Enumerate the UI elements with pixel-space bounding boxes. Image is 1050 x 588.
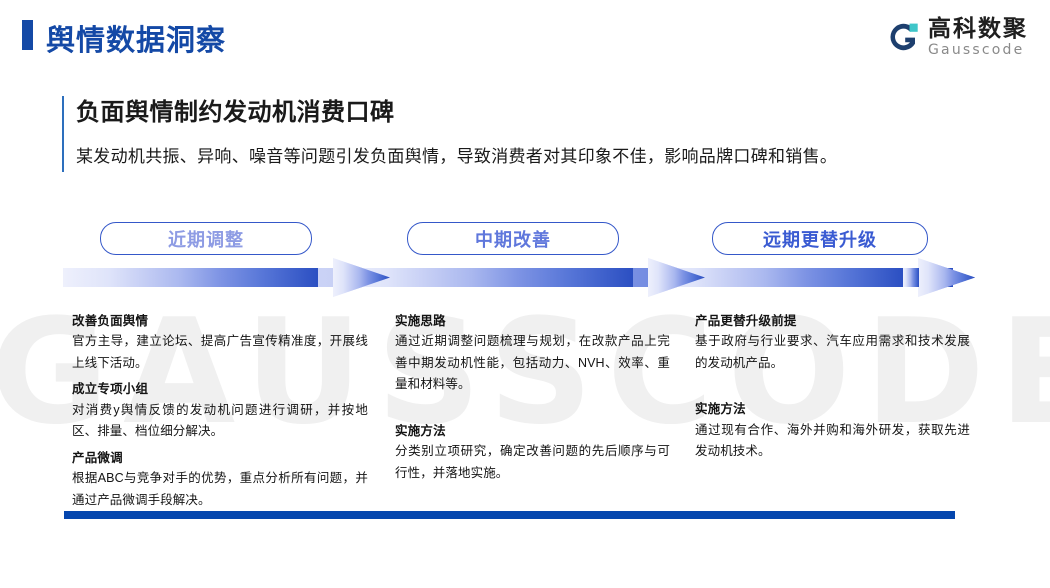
- content-block: 改善负面舆情 官方主导，建立论坛、提高广告宣传精准度，开展线上线下活动。: [72, 312, 368, 374]
- block-body: 官方主导，建立论坛、提高广告宣传精准度，开展线上线下活动。: [72, 331, 368, 374]
- stage-pill-mid-term[interactable]: 中期改善: [407, 222, 619, 255]
- block-title: 成立专项小组: [72, 380, 368, 399]
- content-block: 实施思路 通过近期调整问题梳理与规划，在改款产品上完善中期发动机性能，包括动力、…: [395, 312, 670, 396]
- block-body: 通过现有合作、海外并购和海外研发，获取先进发动机技术。: [695, 420, 970, 463]
- block-body: 根据ABC与竞争对手的优势，重点分析所有问题，并通过产品微调手段解决。: [72, 468, 368, 511]
- header-marker-icon: [22, 20, 33, 50]
- slide-root: GAUSSCODE 舆情数据洞察 高科数聚 Gausscode 负面舆情制约发动…: [0, 0, 1050, 588]
- content-block: 产品微调 根据ABC与竞争对手的优势，重点分析所有问题，并通过产品微调手段解决。: [72, 449, 368, 511]
- stage-pill-label: 中期改善: [475, 226, 551, 252]
- block-title: 产品微调: [72, 449, 368, 468]
- content-block: 实施方法 通过现有合作、海外并购和海外研发，获取先进发动机技术。: [695, 400, 970, 462]
- column-mid-term: 实施思路 通过近期调整问题梳理与规划，在改款产品上完善中期发动机性能，包括动力、…: [395, 312, 670, 490]
- intro-subtitle: 某发动机共振、异响、噪音等问题引发负面舆情，导致消费者对其印象不佳，影响品牌口碑…: [76, 142, 962, 167]
- block-title: 实施思路: [395, 312, 670, 331]
- content-block: 产品更替升级前提 基于政府与行业要求、汽车应用需求和技术发展的发动机产品。: [695, 312, 970, 374]
- block-title: 实施方法: [395, 422, 670, 441]
- timeline-gradient-arrow-icon: [0, 255, 1050, 305]
- column-long-term: 产品更替升级前提 基于政府与行业要求、汽车应用需求和技术发展的发动机产品。 实施…: [695, 312, 970, 469]
- block-title: 实施方法: [695, 400, 970, 419]
- block-body: 基于政府与行业要求、汽车应用需求和技术发展的发动机产品。: [695, 331, 970, 374]
- block-title: 改善负面舆情: [72, 312, 368, 331]
- stage-pill-label: 远期更替升级: [763, 226, 877, 252]
- logo-chinese-name: 高科数聚: [928, 17, 1028, 40]
- slide-header: 舆情数据洞察 高科数聚 Gausscode: [0, 0, 1050, 70]
- block-title: 产品更替升级前提: [695, 312, 970, 331]
- footer-accent-bar: [64, 511, 955, 519]
- stage-pill-label: 近期调整: [168, 226, 244, 252]
- block-body: 通过近期调整问题梳理与规划，在改款产品上完善中期发动机性能，包括动力、NVH、效…: [395, 331, 670, 396]
- stage-pill-long-term[interactable]: 远期更替升级: [712, 222, 928, 255]
- stage-pill-near-term[interactable]: 近期调整: [100, 222, 312, 255]
- block-body: 分类别立项研究，确定改善问题的先后顺序与可行性，并落地实施。: [395, 441, 670, 484]
- block-body: 对消费y舆情反馈的发动机问题进行调研，并按地区、排量、档位细分解决。: [72, 400, 368, 443]
- intro-title: 负面舆情制约发动机消费口碑: [76, 92, 962, 127]
- content-block: 实施方法 分类别立项研究，确定改善问题的先后顺序与可行性，并落地实施。: [395, 422, 670, 484]
- gausscode-g-logo-icon: [885, 20, 919, 54]
- intro-accent-rule: [62, 96, 64, 172]
- column-near-term: 改善负面舆情 官方主导，建立论坛、提高广告宣传精准度，开展线上线下活动。 成立专…: [72, 312, 368, 517]
- intro-block: 负面舆情制约发动机消费口碑 某发动机共振、异响、噪音等问题引发负面舆情，导致消费…: [62, 92, 962, 167]
- content-block: 成立专项小组 对消费y舆情反馈的发动机问题进行调研，并按地区、排量、档位细分解决…: [72, 380, 368, 442]
- page-title: 舆情数据洞察: [46, 17, 226, 59]
- logo-english-name: Gausscode: [928, 43, 1028, 57]
- brand-logo: 高科数聚 Gausscode: [885, 14, 1028, 60]
